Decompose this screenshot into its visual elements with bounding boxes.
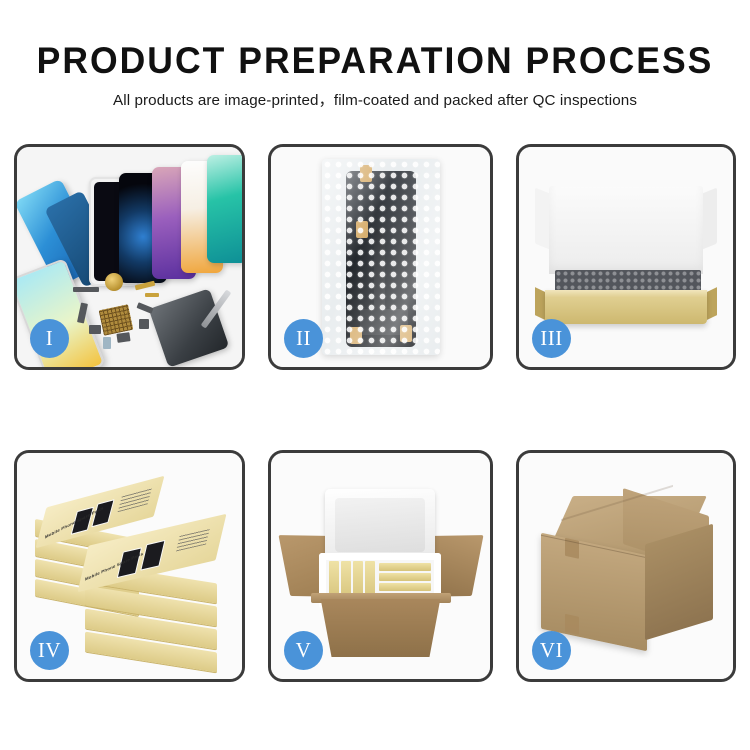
step-panel-4[interactable]: Mobile Phone Spare Parts Mobile Phone Sp… (14, 450, 245, 682)
step-badge-4-label: IV (38, 640, 61, 661)
step-badge-5: V (284, 631, 323, 670)
step-panel-3[interactable]: III (516, 144, 736, 370)
step-panel-6[interactable]: VI (516, 450, 736, 682)
step-badge-5-label: V (296, 640, 312, 661)
step-panel-5[interactable]: V (268, 450, 493, 682)
carton-front (313, 599, 449, 657)
step-badge-6-label: VI (540, 640, 563, 661)
step-panel-1[interactable]: I (14, 144, 245, 370)
product-preparation-infographic: PRODUCT PREPARATION PROCESS All products… (0, 0, 750, 750)
carton-tape-bottom (565, 613, 579, 634)
carton-side-face (645, 523, 713, 640)
box-base-kraft (545, 290, 707, 324)
step-panel-2[interactable]: II (268, 144, 493, 370)
shipping-carton-open (293, 489, 469, 661)
foam-lid (325, 489, 435, 561)
part-camera-module (139, 319, 149, 329)
part-flex-strip-1 (73, 287, 99, 292)
bag-sheen (322, 159, 440, 355)
step-badge-2-label: II (296, 328, 311, 349)
step-badge-2: II (284, 319, 323, 358)
bubble-wrap-bag (322, 159, 440, 355)
page-title: PRODUCT PREPARATION PROCESS (15, 40, 735, 82)
page-subtitle: All products are image-printed，film-coat… (0, 88, 750, 110)
part-vibrator (116, 332, 130, 343)
step-badge-3-label: III (540, 328, 562, 349)
part-sim-tray (103, 337, 111, 349)
box-print-window-2b (140, 539, 165, 570)
part-cable-1 (136, 302, 153, 314)
part-chip-grid (99, 304, 134, 336)
step-badge-1: I (30, 319, 69, 358)
retail-box-stack: Mobile Phone Spare Parts Mobile Phone Sp… (35, 487, 225, 655)
part-speaker-coil (105, 273, 123, 291)
white-inner-box (535, 186, 717, 336)
box-print-textlines-2 (176, 527, 210, 551)
phone-teal (207, 155, 245, 263)
packed-box-6 (379, 573, 431, 581)
steps-grid: I II (14, 144, 736, 689)
box-print-textlines-1 (117, 487, 152, 512)
part-connector-2 (89, 325, 101, 334)
sealed-carton (537, 496, 715, 646)
part-gold-contact (145, 293, 159, 297)
box-lid-back (549, 186, 703, 274)
step-badge-1-label: I (46, 328, 54, 349)
step-badge-3: III (532, 319, 571, 358)
step-badge-4: IV (30, 631, 69, 670)
step-badge-6: VI (532, 631, 571, 670)
packed-box-7 (379, 583, 431, 591)
packed-box-5 (379, 563, 431, 571)
